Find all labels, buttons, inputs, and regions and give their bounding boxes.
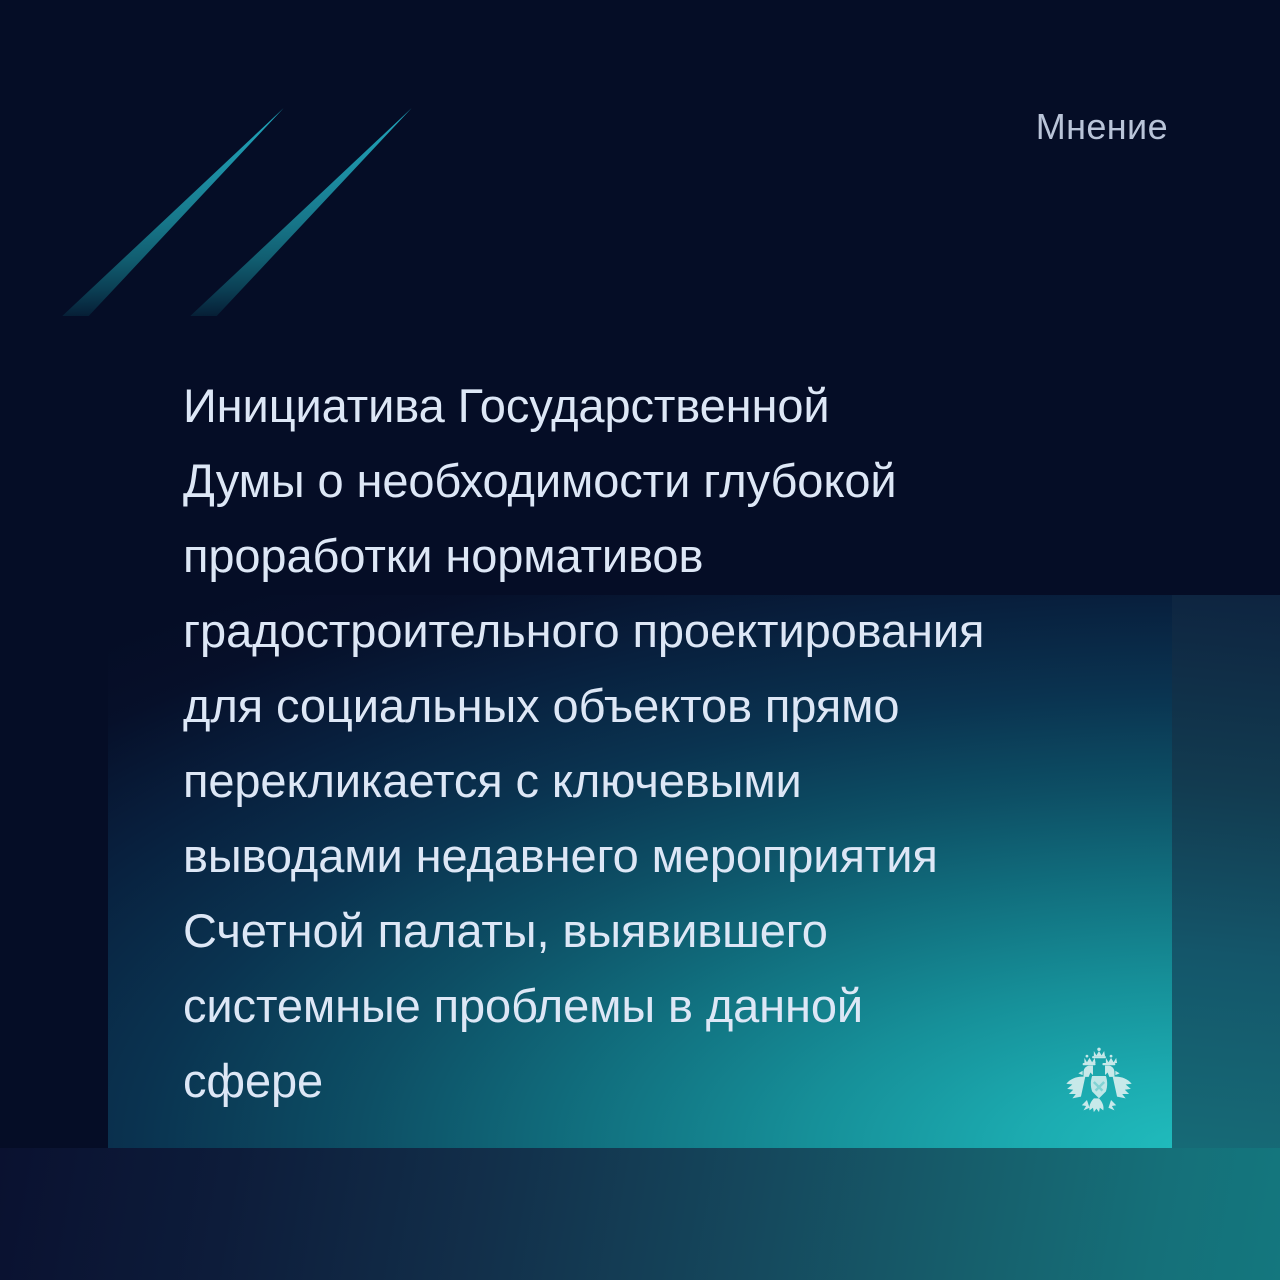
quote-line: сфере: [183, 1043, 1193, 1118]
quote-line: системные проблемы в данной: [183, 968, 1193, 1043]
quote-card: Мнение Инициатива Государственной Думы о…: [0, 0, 1280, 1280]
quote-bar-right: [190, 108, 411, 316]
quote-line: градостроительного проектирования: [183, 593, 1193, 668]
bottom-gradient-band: [0, 1148, 1280, 1280]
double-headed-eagle-emblem-icon: [1056, 1045, 1142, 1131]
quote-line: Инициатива Государственной: [183, 368, 1193, 443]
quote-bar-left: [62, 108, 283, 316]
quote-line: Думы о необходимости глубокой: [183, 443, 1193, 518]
quote-line: проработки нормативов: [183, 518, 1193, 593]
quote-line: выводами недавнего мероприятия: [183, 818, 1193, 893]
quote-line: Счетной палаты, выявившего: [183, 893, 1193, 968]
quote-line: перекликается с ключевыми: [183, 743, 1193, 818]
double-slash-quote-icon: [113, 108, 388, 316]
quote-text-block: Инициатива Государственной Думы о необхо…: [183, 368, 1193, 1118]
category-label: Мнение: [1036, 106, 1168, 148]
quote-line: для социальных объектов прямо: [183, 668, 1193, 743]
